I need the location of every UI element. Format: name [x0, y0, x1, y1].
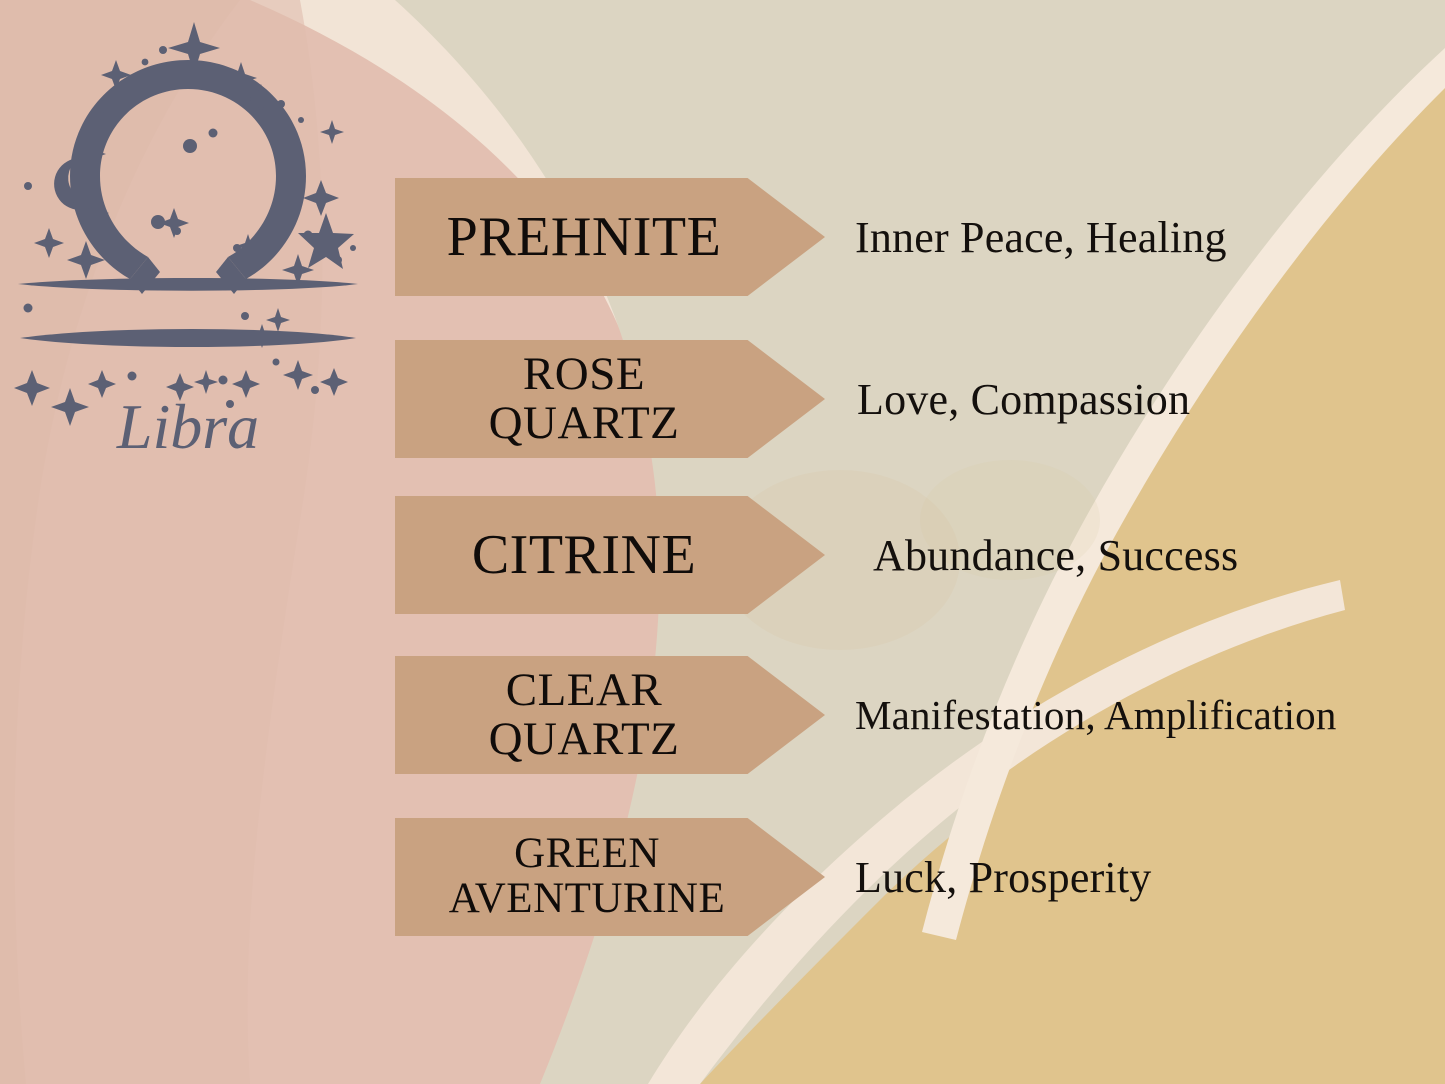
crystal-banner[interactable]: GREEN AVENTURINE	[395, 818, 825, 936]
crystal-row: CLEAR QUARTZ Manifestation, Amplificatio…	[0, 656, 1445, 774]
crystal-meaning: Abundance, Success	[873, 530, 1238, 581]
crystal-name: CITRINE	[472, 527, 748, 583]
crystal-banner[interactable]: ROSE QUARTZ	[395, 340, 825, 458]
crystal-row: PREHNITE Inner Peace, Healing	[0, 178, 1445, 296]
crystal-name: GREEN AVENTURINE	[449, 832, 772, 921]
crystal-meaning: Manifestation, Amplification	[855, 691, 1337, 739]
zodiac-crystal-infographic: Libra PREHNITE Inner Peace, Healing ROSE…	[0, 0, 1445, 1084]
crystal-row: CITRINE Abundance, Success	[0, 496, 1445, 614]
crystal-banner[interactable]: PREHNITE	[395, 178, 825, 296]
crystal-banner[interactable]: CLEAR QUARTZ	[395, 656, 825, 774]
crystal-name: PREHNITE	[447, 209, 774, 265]
crystal-row: ROSE QUARTZ Love, Compassion	[0, 340, 1445, 458]
crystal-row: GREEN AVENTURINE Luck, Prosperity	[0, 818, 1445, 936]
crystal-meaning: Inner Peace, Healing	[855, 212, 1227, 263]
crystal-banner[interactable]: CITRINE	[395, 496, 825, 614]
crystal-name: ROSE QUARTZ	[489, 350, 732, 448]
crystal-name: CLEAR QUARTZ	[489, 666, 732, 764]
crystal-meaning: Luck, Prosperity	[855, 852, 1151, 903]
crystal-meaning: Love, Compassion	[857, 374, 1190, 425]
